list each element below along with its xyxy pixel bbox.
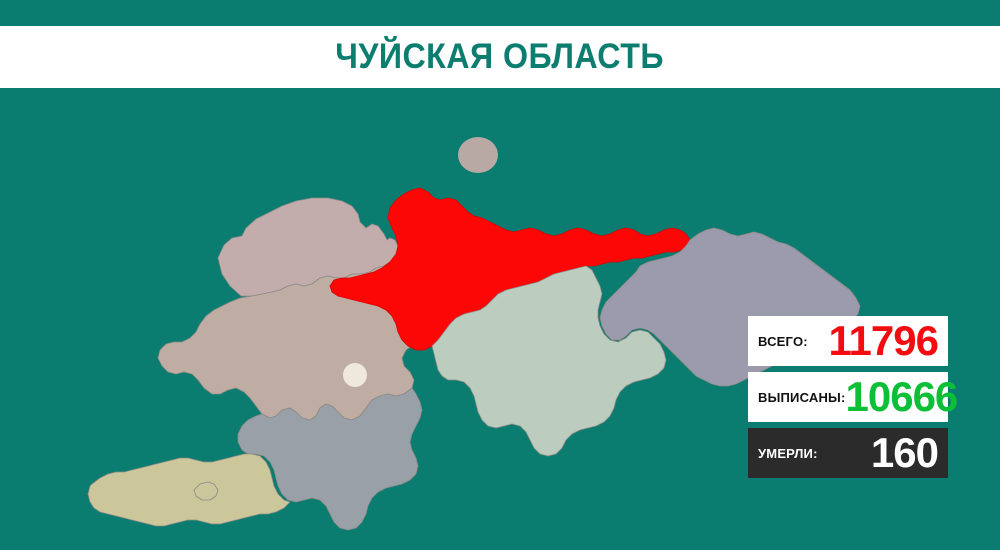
map-region-batken[interactable] (88, 454, 290, 526)
city-marker-bishkek[interactable] (458, 137, 498, 173)
stat-value-recovered: 10666 (846, 376, 958, 418)
stat-row-total: ВСЕГО: 11796 (748, 316, 948, 366)
stat-value-total: 11796 (829, 320, 938, 362)
city-marker-osh[interactable] (343, 363, 367, 387)
stat-label-total: ВСЕГО: (758, 334, 808, 349)
stat-row-died: УМЕРЛИ: 160 (748, 428, 948, 478)
stat-label-died: УМЕРЛИ: (758, 446, 818, 461)
stat-row-recovered: ВЫПИСАНЫ: 10666 (748, 372, 948, 422)
header-band: ЧУЙСКАЯ ОБЛАСТЬ (0, 26, 1000, 88)
page-title: ЧУЙСКАЯ ОБЛАСТЬ (336, 37, 665, 77)
infographic-canvas: ЧУЙСКАЯ ОБЛАСТЬ ВСЕГО: 11 (0, 0, 1000, 550)
stat-value-died: 160 (871, 432, 938, 474)
stats-panel: ВСЕГО: 11796 ВЫПИСАНЫ: 10666 УМЕРЛИ: 160 (748, 316, 948, 478)
stat-label-recovered: ВЫПИСАНЫ: (758, 390, 846, 405)
